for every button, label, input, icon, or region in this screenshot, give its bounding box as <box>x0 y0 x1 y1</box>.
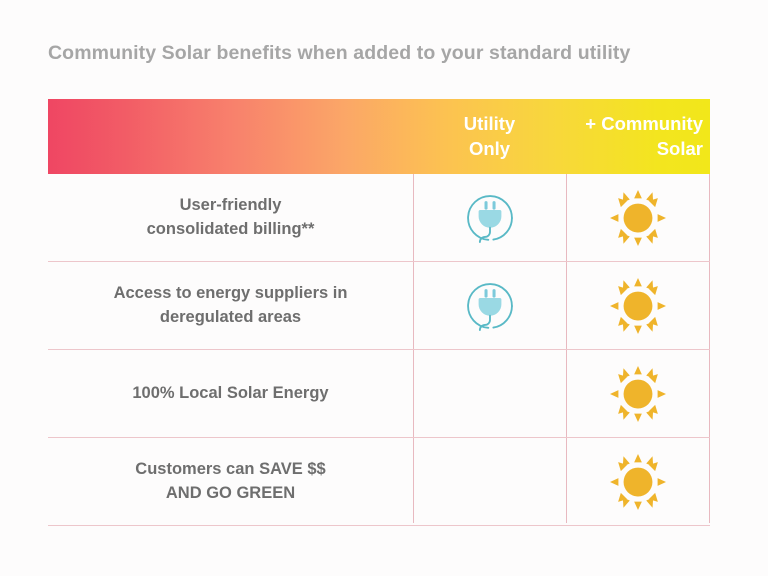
benefit-label-cell: Access to energy suppliers in deregulate… <box>48 262 413 349</box>
column-header-community-line2: Solar <box>657 137 703 162</box>
column-header-utility-line2: Only <box>469 137 510 162</box>
table-body: User-friendly consolidated billing** <box>48 174 710 526</box>
table-row: User-friendly consolidated billing** <box>48 174 710 262</box>
column-header-utility-only: Utility Only <box>413 99 566 174</box>
infographic-page: Community Solar benefits when added to y… <box>0 0 768 576</box>
table-row: 100% Local Solar Energy <box>48 350 710 438</box>
table-row: Access to energy suppliers in deregulate… <box>48 262 710 350</box>
cell-community-solar <box>566 174 710 261</box>
benefit-label-cell: 100% Local Solar Energy <box>48 350 413 437</box>
cell-utility-only <box>413 174 566 261</box>
cell-community-solar <box>566 262 710 349</box>
plug-icon <box>463 191 517 245</box>
benefit-label-line2: consolidated billing** <box>147 220 315 238</box>
benefit-label-line2: deregulated areas <box>160 308 301 326</box>
cell-utility-only <box>413 262 566 349</box>
benefit-label-line1: Access to energy suppliers in <box>114 284 348 302</box>
column-header-community-line1: + Community <box>585 112 703 137</box>
benefit-label-line2: AND GO GREEN <box>166 484 295 502</box>
cell-utility-only <box>413 438 566 525</box>
page-title: Community Solar benefits when added to y… <box>48 42 738 65</box>
sun-icon <box>610 454 666 510</box>
benefit-label-line1: User-friendly <box>180 196 282 214</box>
sun-icon <box>610 366 666 422</box>
comparison-table: Utility Only + Community Solar User-frie… <box>48 99 710 536</box>
table-header-row: Utility Only + Community Solar <box>48 99 710 174</box>
cell-utility-only <box>413 350 566 437</box>
plug-icon <box>463 279 517 333</box>
sun-icon <box>610 278 666 334</box>
table-row: Customers can SAVE $$ AND GO GREEN <box>48 438 710 526</box>
benefit-label-line1: 100% Local Solar Energy <box>132 384 328 402</box>
benefit-label-cell: User-friendly consolidated billing** <box>48 174 413 261</box>
cell-community-solar <box>566 438 710 525</box>
column-header-utility-line1: Utility <box>464 112 515 137</box>
benefit-label-cell: Customers can SAVE $$ AND GO GREEN <box>48 438 413 525</box>
sun-icon <box>610 190 666 246</box>
cell-community-solar <box>566 350 710 437</box>
benefit-label-line1: Customers can SAVE $$ <box>135 460 325 478</box>
column-header-community-solar: + Community Solar <box>566 99 710 174</box>
